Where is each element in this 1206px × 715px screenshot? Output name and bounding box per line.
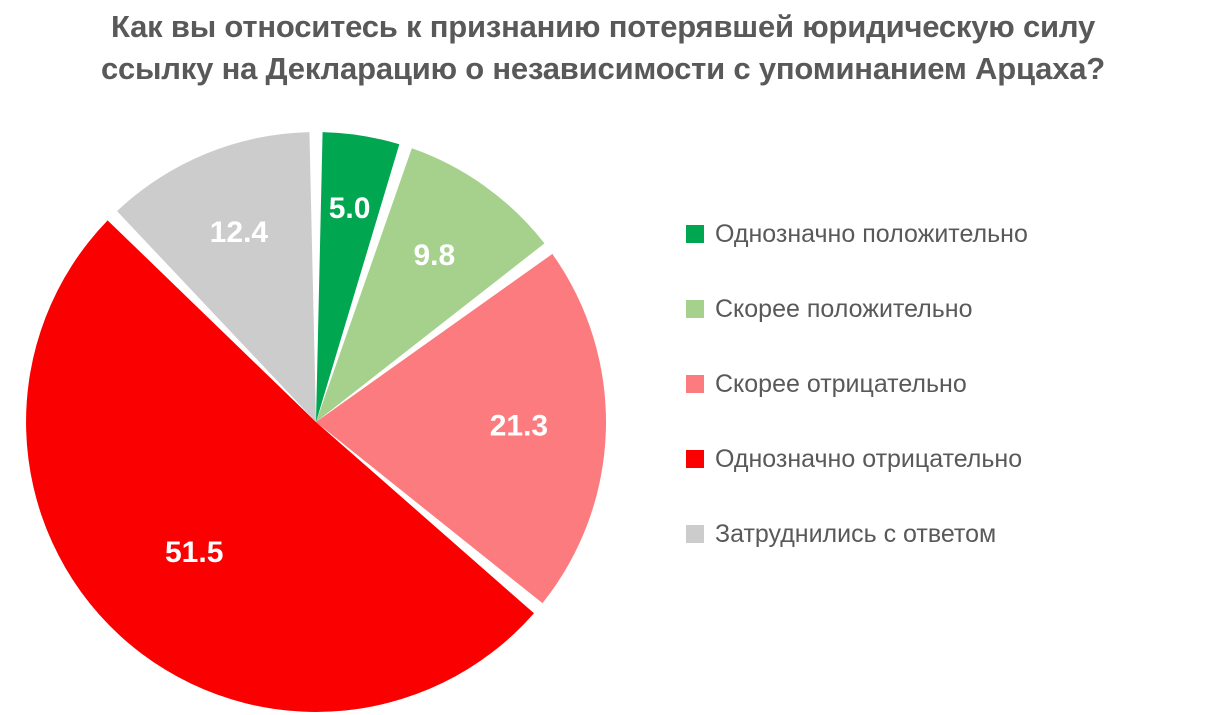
legend-swatch-icon-1 xyxy=(686,300,704,318)
legend-label-2: Скорее отрицательно xyxy=(715,370,967,398)
legend-swatch-icon-3 xyxy=(686,450,704,468)
pie-data-label-3: 51.5 xyxy=(165,536,223,569)
chart-title: Как вы относитесь к признанию потерявшей… xyxy=(0,6,1206,90)
legend-item-0[interactable]: Однозначно положительно xyxy=(686,196,1186,271)
pie-data-label-4: 12.4 xyxy=(210,216,269,249)
legend-swatch-icon-2 xyxy=(686,375,704,393)
legend-label-4: Затруднились с ответом xyxy=(715,520,996,548)
pie-data-label-1: 9.8 xyxy=(413,239,455,272)
pie-data-label-0: 5.0 xyxy=(329,192,371,225)
chart-legend: Однозначно положительно Скорее положител… xyxy=(686,196,1186,571)
legend-swatch-icon-0 xyxy=(686,225,704,243)
legend-label-1: Скорее положительно xyxy=(715,295,972,323)
legend-item-4[interactable]: Затруднились с ответом xyxy=(686,496,1186,571)
pie-svg: 5.09.821.351.512.4 xyxy=(0,110,660,715)
legend-item-2[interactable]: Скорее отрицательно xyxy=(686,346,1186,421)
legend-item-1[interactable]: Скорее положительно xyxy=(686,271,1186,346)
legend-swatch-icon-4 xyxy=(686,525,704,543)
pie-data-label-2: 21.3 xyxy=(490,410,548,443)
legend-item-3[interactable]: Однозначно отрицательно xyxy=(686,421,1186,496)
pie-chart: 5.09.821.351.512.4 xyxy=(0,110,660,715)
legend-label-3: Однозначно отрицательно xyxy=(715,445,1022,473)
legend-label-0: Однозначно положительно xyxy=(715,220,1028,248)
chart-canvas: Как вы относитесь к признанию потерявшей… xyxy=(0,0,1206,715)
